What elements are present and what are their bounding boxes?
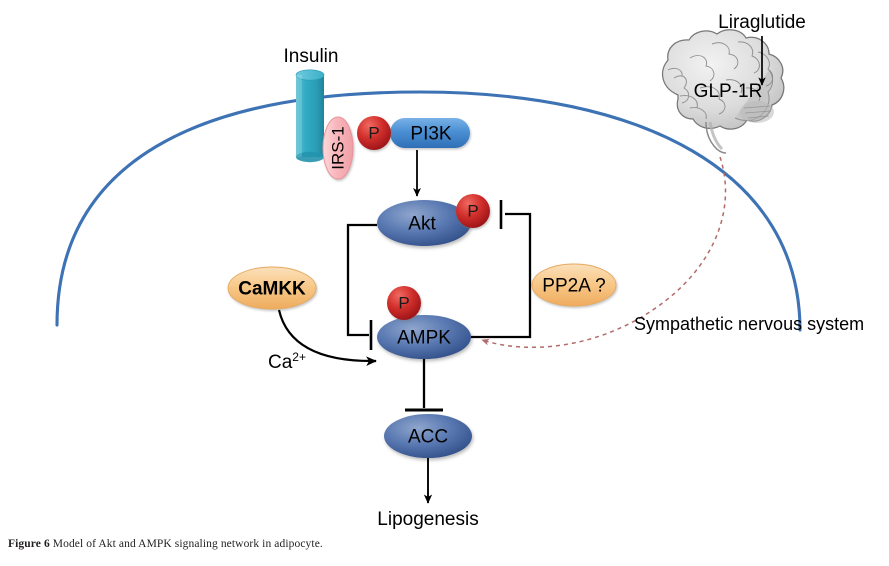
irs1-node: IRS-1 <box>323 117 353 179</box>
pi3k-label: PI3K <box>410 124 452 145</box>
glp1r-label: GLP-1R <box>694 81 763 102</box>
signaling-diagram: Liraglutide GLP-1R Sympathetic nervous s… <box>0 0 889 566</box>
acc-label: ACC <box>408 427 448 448</box>
lipogenesis-label: Lipogenesis <box>377 509 478 530</box>
phospho-label: P <box>368 124 379 143</box>
ampk-label: AMPK <box>397 328 451 349</box>
phospho-akt: P <box>456 194 490 228</box>
sympathetic-nervous-system-label: Sympathetic nervous system <box>634 314 864 334</box>
acc-node: ACC <box>384 414 472 458</box>
figure-container: Liraglutide GLP-1R Sympathetic nervous s… <box>0 0 889 566</box>
camkk-label: CaMKK <box>238 279 306 300</box>
akt-inhibits-ampk-line <box>348 225 377 335</box>
ampk-inhibits-akt-line <box>471 214 530 337</box>
phospho-ampk: P <box>387 286 421 320</box>
phospho-label: P <box>467 202 478 221</box>
pp2a-node: PP2A ? <box>532 264 616 306</box>
calcium-superscript: 2+ <box>292 350 306 364</box>
figure-caption: Figure 6 Model of Akt and AMPK signaling… <box>8 538 878 550</box>
irs1-label: IRS-1 <box>329 126 348 169</box>
figure-caption-label: Figure 6 <box>8 538 50 550</box>
calcium-base: Ca <box>268 352 293 373</box>
phospho-irs1: P <box>357 116 391 150</box>
camkk-node: CaMKK <box>228 267 316 309</box>
phospho-label: P <box>398 294 409 313</box>
ampk-node: AMPK <box>377 315 471 359</box>
figure-caption-text: Model of Akt and AMPK signaling network … <box>53 538 323 550</box>
insulin-label: Insulin <box>284 46 339 67</box>
insulin-receptor <box>296 70 324 162</box>
liraglutide-label: Liraglutide <box>718 12 806 33</box>
calcium-label: Ca2+ <box>268 350 306 373</box>
akt-label: Akt <box>408 214 436 235</box>
pi3k-node: PI3K <box>390 118 470 148</box>
pp2a-label: PP2A ? <box>542 276 605 297</box>
